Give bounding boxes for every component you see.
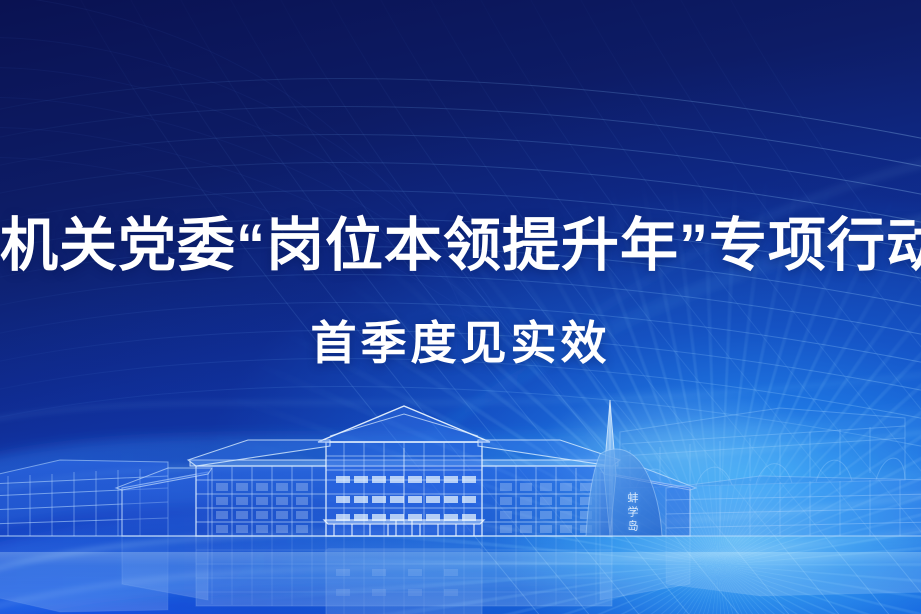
page-title-line-1: 机关党委“岗位本领提升年”专项行动 xyxy=(0,206,921,286)
page-title-line-2: 首季度见实效 xyxy=(0,308,921,378)
building-reflection xyxy=(0,536,921,614)
monument-inscription: 蚌学岛 xyxy=(614,492,640,534)
banner-canvas: 蚌学岛 机关党委“岗位本领提升年”专项行动 首季度见实效 xyxy=(0,0,921,614)
right-wing-building xyxy=(666,476,921,536)
title-block: 机关党委“岗位本领提升年”专项行动 首季度见实效 xyxy=(0,206,921,378)
architecture-illustration xyxy=(0,384,921,614)
